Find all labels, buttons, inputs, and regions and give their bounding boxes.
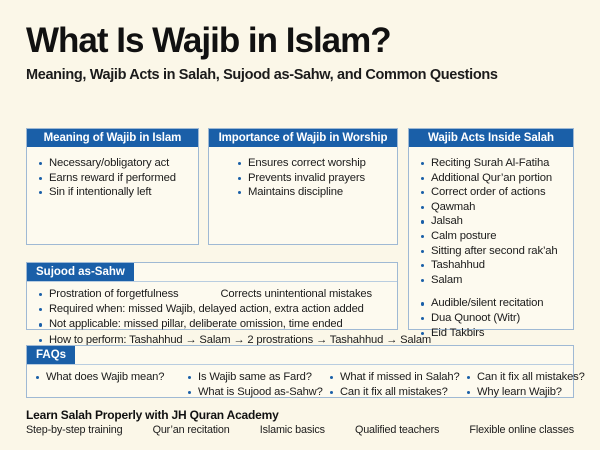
list-item: Eid Takbirs: [418, 326, 565, 341]
list-item: What if missed in Salah?: [327, 370, 464, 385]
list-item: Earns reward if performed: [36, 171, 190, 186]
footer-features: Step-by-step training Qur’an recitation …: [26, 424, 574, 436]
list-item: Sitting after second rak’ah: [418, 244, 565, 259]
list-item: Required when: missed Wajib, delayed act…: [36, 302, 389, 317]
list-item: Dua Qunoot (Witr): [418, 311, 565, 326]
list-item: Can it fix all mistakes?: [464, 370, 594, 385]
footer-feature: Qur’an recitation: [153, 424, 230, 436]
footer-feature: Step-by-step training: [26, 424, 122, 436]
faq-list: Can it fix all mistakes? Why learn Wajib…: [464, 370, 594, 400]
list-item: Qawmah: [418, 200, 565, 215]
card-faqs: FAQs What does Wajib mean? Is Wajib same…: [26, 345, 574, 398]
list-item: Jalsah: [418, 214, 565, 229]
list-item: What is Sujood as-Sahw?: [185, 385, 327, 400]
faq-list: Is Wajib same as Fard? What is Sujood as…: [185, 370, 327, 400]
list-item: Can it fix all mistakes?: [327, 385, 464, 400]
card-meaning-of-wajib: Meaning of Wajib in Islam Necessary/obli…: [26, 128, 199, 245]
faq-columns: What does Wajib mean? Is Wajib same as F…: [27, 365, 573, 405]
list-spacer: [418, 287, 565, 296]
list-item: Ensures correct worship: [235, 156, 389, 171]
list-item: What does Wajib mean?: [33, 370, 185, 385]
list-item: Maintains discipline: [235, 185, 389, 200]
importance-list: Ensures correct worship Prevents invalid…: [235, 156, 389, 200]
card-sujood-as-sahw: Sujood as-Sahw Prostration of forgetfuln…: [26, 262, 398, 330]
list-item: Necessary/obligatory act: [36, 156, 190, 171]
faq-column: Is Wajib same as Fard? What is Sujood as…: [185, 370, 327, 400]
wajib-acts-list: Reciting Surah Al-Fatiha Additional Qur’…: [418, 156, 565, 340]
list-item: Correct order of actions: [418, 185, 565, 200]
sujood-list: Prostration of forgetfulnessCorrects uni…: [36, 287, 389, 348]
list-item: Reciting Surah Al-Fatiha: [418, 156, 565, 171]
footer-title: Learn Salah Properly with JH Quran Acade…: [26, 408, 279, 422]
card-importance-body: Ensures correct worship Prevents invalid…: [209, 147, 397, 206]
card-sujood-body: Prostration of forgetfulnessCorrects uni…: [27, 282, 397, 353]
sujood-heading: Sujood as-Sahw: [27, 263, 134, 281]
faq-column: What if missed in Salah? Can it fix all …: [327, 370, 464, 400]
card-acts-body: Reciting Surah Al-Fatiha Additional Qur’…: [409, 147, 573, 346]
faq-column: What does Wajib mean?: [33, 370, 185, 400]
list-item: Additional Qur’an portion: [418, 171, 565, 186]
footer-feature: Islamic basics: [260, 424, 325, 436]
list-item: Salam: [418, 273, 565, 288]
page-title: What Is Wajib in Islam?: [26, 22, 391, 60]
card-importance-heading: Importance of Wajib in Worship: [209, 129, 397, 147]
faq-column: Can it fix all mistakes? Why learn Wajib…: [464, 370, 594, 400]
faq-list: What if missed in Salah? Can it fix all …: [327, 370, 464, 400]
list-item: Tashahhud: [418, 258, 565, 273]
faqs-heading-strip: FAQs: [27, 346, 573, 365]
faq-list: What does Wajib mean?: [33, 370, 185, 385]
card-meaning-body: Necessary/obligatory act Earns reward if…: [27, 147, 198, 206]
sujood-heading-strip: Sujood as-Sahw: [27, 263, 397, 282]
card-meaning-heading: Meaning of Wajib in Islam: [27, 129, 198, 147]
card-importance-of-wajib: Importance of Wajib in Worship Ensures c…: [208, 128, 398, 245]
card-wajib-acts-inside-salah: Wajib Acts Inside Salah Reciting Surah A…: [408, 128, 574, 330]
list-item: Not applicable: missed pillar, deliberat…: [36, 317, 389, 332]
list-item: Prostration of forgetfulnessCorrects uni…: [36, 287, 389, 302]
list-item: Is Wajib same as Fard?: [185, 370, 327, 385]
card-acts-heading: Wajib Acts Inside Salah: [409, 129, 573, 147]
sujood-item-trailing: Corrects unintentional mistakes: [221, 288, 372, 300]
list-item: Prevents invalid prayers: [235, 171, 389, 186]
list-item: Why learn Wajib?: [464, 385, 594, 400]
list-item: Audible/silent recitation: [418, 296, 565, 311]
list-item: Calm posture: [418, 229, 565, 244]
infographic-page: What Is Wajib in Islam? Meaning, Wajib A…: [0, 0, 600, 450]
footer-feature: Qualified teachers: [355, 424, 439, 436]
sujood-item-text: Prostration of forgetfulness: [49, 288, 179, 300]
footer-feature: Flexible online classes: [469, 424, 574, 436]
page-subtitle: Meaning, Wajib Acts in Salah, Sujood as-…: [26, 67, 498, 84]
list-item: Sin if intentionally left: [36, 185, 190, 200]
meaning-list: Necessary/obligatory act Earns reward if…: [36, 156, 190, 200]
faqs-heading: FAQs: [27, 346, 75, 364]
